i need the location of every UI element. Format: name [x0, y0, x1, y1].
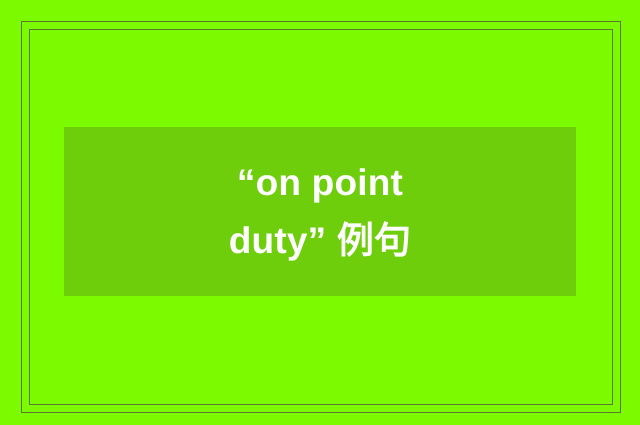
banner-canvas: “on point duty” 例句 [0, 0, 640, 425]
content-panel: “on point duty” 例句 [64, 127, 576, 296]
panel-title: “on point duty” 例句 [205, 154, 435, 270]
